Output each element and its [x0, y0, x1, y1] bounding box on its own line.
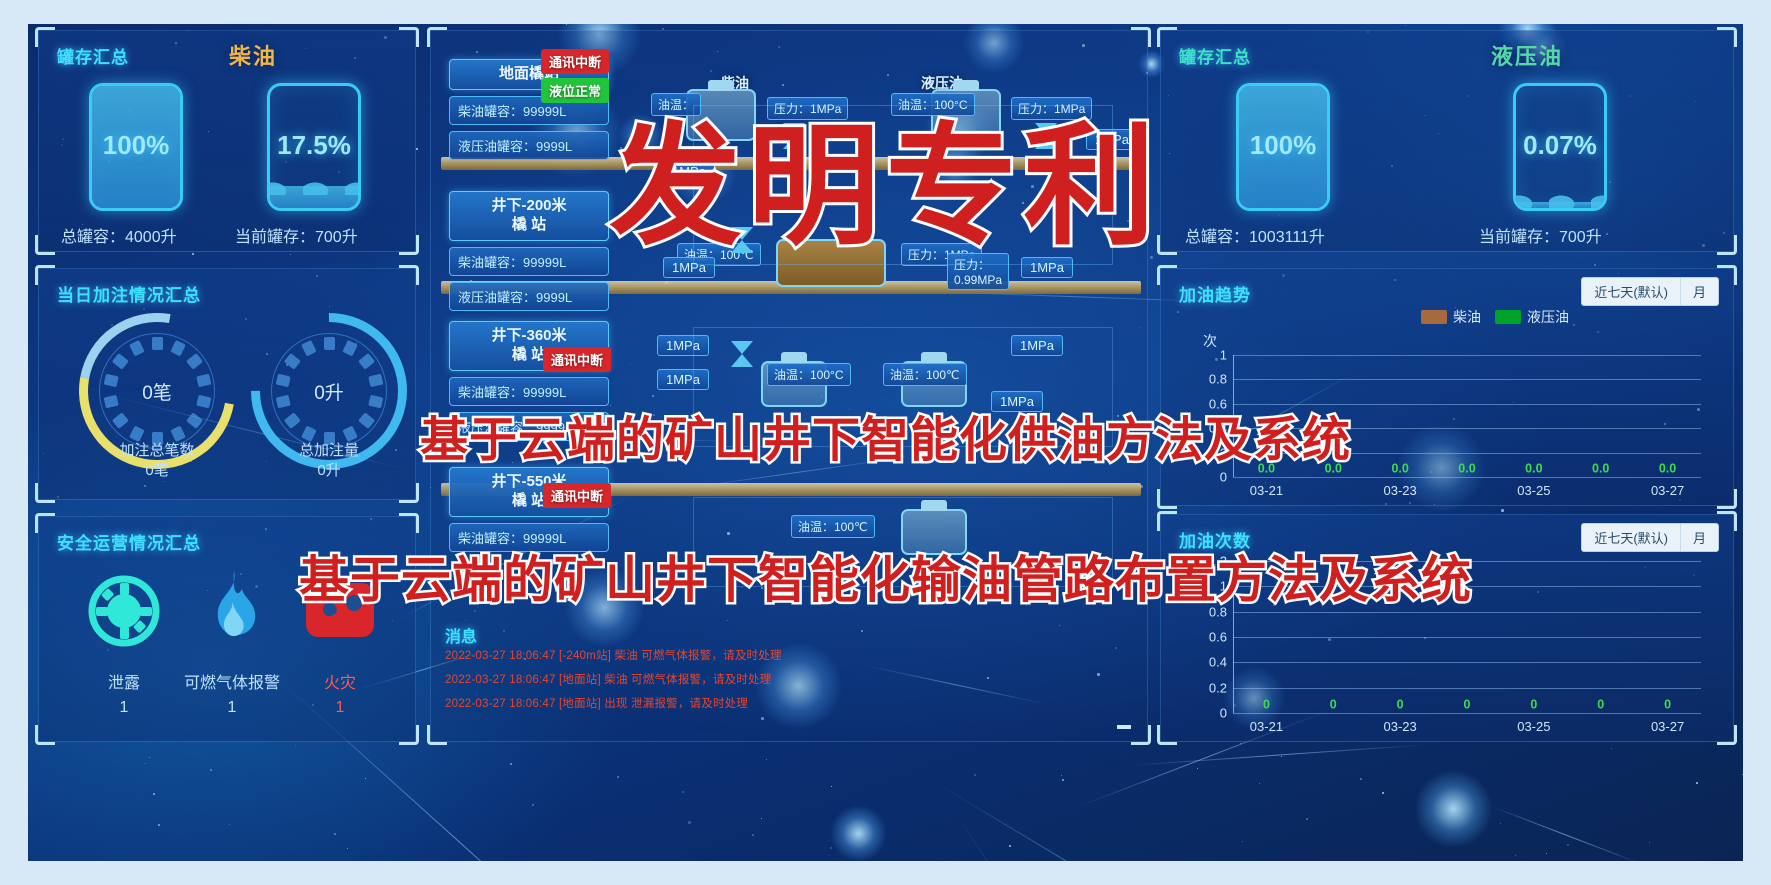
tank-current-percent: 17.5%	[270, 130, 358, 161]
light-glow	[1414, 770, 1492, 848]
panel-title-safety: 安全运营情况汇总	[57, 529, 201, 554]
star-dot	[1567, 844, 1569, 846]
message-panel: 消息 2022-03-27 18:06:47 [-240m站] 柴油 可燃气体报…	[431, 613, 1149, 723]
chart-title-trend: 加油趋势	[1179, 281, 1251, 306]
tank-wave	[1513, 190, 1607, 208]
corner-decoration	[399, 235, 419, 255]
message-panel-title: 消息	[445, 623, 477, 647]
x-axis-tick-label: 03-27	[1651, 719, 1684, 734]
panel-title-stock: 罐存汇总	[57, 43, 129, 68]
message-line: 2022-03-27 18:06:47 [-240m站] 柴油 可燃气体报警，请…	[445, 647, 782, 663]
x-axis-tick-label: 03-25	[1517, 483, 1550, 498]
star-dot	[1649, 842, 1650, 843]
safety-count-fire: 1	[265, 699, 415, 717]
legend-swatch-icon	[1421, 310, 1447, 324]
corner-decoration	[35, 27, 55, 47]
watermark-line-1: 基于云端的矿山井下智能化供油方法及系统	[420, 400, 1351, 470]
tank-fill	[1516, 202, 1604, 208]
corner-decoration	[35, 483, 55, 503]
fuel-type-label-diesel: 柴油	[229, 39, 277, 71]
corner-decoration	[1157, 725, 1177, 745]
corner-decoration	[35, 265, 55, 285]
star-dot	[1382, 792, 1384, 794]
corner-decoration	[427, 27, 447, 47]
x-axis-tick-label: 03-23	[1384, 483, 1417, 498]
panel-chart-refuel-trend: 加油趋势 近七天(默认) 月 柴油 液压油 次 00.20.40.60.8103…	[1160, 268, 1734, 506]
fuel-type-label-hydraulic: 液压油	[1491, 39, 1563, 71]
total-capacity-label: 总罐容：4000升	[61, 223, 177, 247]
status-badge-level: 液位正常	[541, 78, 609, 103]
star-dot	[688, 821, 691, 824]
star-dot	[416, 148, 418, 150]
light-streak	[1129, 744, 1426, 766]
y-axis-tick-label: 0	[1220, 470, 1227, 485]
star-dot	[1197, 768, 1198, 769]
panel-stock-hydraulic: 罐存汇总 液压油 100% 总罐容：1003111升 0.07% 当前罐存：70…	[1160, 30, 1734, 252]
star-dot	[229, 824, 230, 825]
x-axis-tick-label: 03-21	[1250, 719, 1283, 734]
tank-total-capacity: 100%	[89, 83, 183, 211]
tank-wave	[267, 177, 361, 195]
message-line: 2022-03-27 18:06:47 [地面站] 柴油 可燃气体报警，请及时处…	[445, 671, 771, 687]
star-dot	[192, 253, 194, 255]
corner-decoration	[399, 483, 419, 503]
legend-label-diesel: 柴油	[1453, 307, 1481, 327]
current-stock-label-hydraulic: 当前罐存：700升	[1479, 223, 1602, 247]
star-dot	[158, 824, 160, 826]
chart-data-label: 0	[1530, 698, 1537, 712]
corner-decoration	[427, 725, 447, 745]
chart-gridline	[1233, 662, 1701, 663]
tank-current-stock-hydraulic: 0.07%	[1513, 83, 1607, 211]
chart-data-label: 0	[1397, 698, 1404, 712]
status-badge-comm: 通讯中断	[541, 49, 609, 74]
chart-data-label: 0	[1330, 698, 1337, 712]
corner-decoration	[1157, 27, 1177, 47]
legend-label-hydraulic: 液压油	[1527, 307, 1569, 327]
chart-legend-trend: 柴油 液压油	[1421, 307, 1569, 327]
chart-data-label: 0	[1263, 698, 1270, 712]
light-streak	[1489, 805, 1644, 865]
star-dot	[149, 757, 150, 758]
corner-decoration	[1157, 511, 1177, 531]
corner-decoration	[1717, 725, 1737, 745]
star-dot	[210, 769, 212, 771]
star-dot	[532, 804, 534, 806]
total-capacity-label-hydraulic: 总罐容：1003111升	[1185, 223, 1325, 247]
panel-stock-diesel: 罐存汇总 柴油 100% 总罐容：4000升 17.5% 当前罐存：700升	[38, 30, 416, 252]
corner-decoration	[1131, 27, 1151, 47]
light-glow	[830, 805, 887, 862]
star-dot	[1360, 778, 1362, 780]
minimize-icon[interactable]	[1117, 725, 1131, 729]
station-minus-550[interactable]: 井下-550米 橇 站 柴油罐容：99999L	[449, 467, 609, 552]
x-axis-tick-label: 03-25	[1517, 719, 1550, 734]
star-dot	[761, 818, 762, 819]
star-dot	[1515, 855, 1516, 856]
y-axis-tick-label: 0.4	[1209, 655, 1227, 670]
y-axis-tick-label: 0.8	[1209, 372, 1227, 387]
star-dot	[1240, 743, 1241, 744]
status-badge-comm: 通讯中断	[543, 483, 611, 508]
chart-data-label: 0.0	[1659, 462, 1676, 476]
corner-decoration	[1717, 265, 1737, 285]
star-dot	[1500, 823, 1501, 824]
star-dot	[682, 791, 684, 793]
star-dot	[617, 776, 619, 778]
chart-gridline	[1233, 637, 1701, 638]
watermark-line-2: 基于云端的矿山井下智能化输油管路布置方法及系统	[299, 540, 1472, 612]
corner-decoration	[399, 513, 419, 533]
star-dot	[1501, 509, 1504, 512]
chart-gridline	[1233, 477, 1701, 478]
star-dot	[1546, 853, 1547, 854]
legend-item-hydraulic: 液压油	[1495, 307, 1569, 327]
station-surface-tags: 通讯中断 液位正常	[541, 49, 609, 103]
corner-decoration	[1717, 511, 1737, 531]
star-dot	[830, 847, 832, 849]
corner-decoration	[35, 235, 55, 255]
y-axis-tick-label: 1	[1220, 348, 1227, 363]
star-dot	[1281, 756, 1282, 757]
dashboard-stage: 罐存汇总 柴油 100% 总罐容：4000升 17.5% 当前罐存：700升 当…	[0, 0, 1771, 885]
current-stock-label: 当前罐存：700升	[235, 223, 358, 247]
star-dot	[153, 793, 155, 795]
range-tabs-trend[interactable]: 近七天(默认) 月	[1581, 277, 1719, 306]
legend-item-diesel: 柴油	[1421, 307, 1481, 327]
y-axis-tick-label: 0.2	[1209, 680, 1227, 695]
x-axis-tick-label: 03-21	[1250, 483, 1283, 498]
y-axis-unit-trend: 次	[1203, 331, 1217, 351]
chart-data-label: 0.0	[1391, 462, 1408, 476]
chart-data-label: 0	[1464, 698, 1471, 712]
page-border-left	[0, 0, 28, 885]
corner-decoration	[35, 725, 55, 745]
tank-total-percent-hydraulic: 100%	[1239, 130, 1327, 161]
panel-title-today: 当日加注情况汇总	[57, 281, 201, 306]
y-axis-tick-label: 0.6	[1209, 630, 1227, 645]
tab-last-seven-days[interactable]: 近七天(默认)	[1582, 524, 1680, 551]
tab-month[interactable]: 月	[1680, 524, 1718, 551]
star-dot	[1611, 748, 1612, 749]
station-row-diesel: 柴油罐容：99999L	[449, 247, 609, 276]
safety-label-fire: 火灾	[265, 669, 415, 693]
star-dot	[1009, 845, 1011, 847]
message-line: 2022-03-27 18:06:47 [地面站] 出现 泄漏报警，请及时处理	[445, 695, 748, 711]
chart-gridline	[1233, 688, 1701, 689]
corner-decoration	[399, 27, 419, 47]
tab-month[interactable]: 月	[1680, 278, 1718, 305]
star-dot	[1306, 818, 1308, 820]
chart-gridline	[1233, 355, 1701, 356]
y-axis-tick-label: 0	[1220, 706, 1227, 721]
panel-title-stock-right: 罐存汇总	[1179, 43, 1251, 68]
chart-data-label: 0.0	[1592, 462, 1609, 476]
star-dot	[1242, 841, 1243, 842]
station-row-hydraulic: 液压油罐容：9999L	[449, 282, 609, 311]
watermark-patent: 发明专利	[610, 80, 1162, 271]
star-dot	[1696, 782, 1698, 784]
x-axis-tick-label: 03-23	[1384, 719, 1417, 734]
star-dot	[334, 833, 336, 835]
panel-today-refuel: 当日加注情况汇总 0笔 加注总笔数 0笔 0升 总加注量 0升	[38, 268, 416, 500]
chart-gridline	[1233, 713, 1701, 714]
star-dot	[1062, 779, 1064, 781]
star-dot	[1259, 783, 1260, 784]
corner-decoration	[35, 513, 55, 533]
star-dot	[295, 745, 296, 746]
corner-decoration	[1717, 235, 1737, 255]
chart-gridline	[1233, 379, 1701, 380]
tank-current-percent-hydraulic: 0.07%	[1516, 130, 1604, 161]
tank-total-percent: 100%	[92, 130, 180, 161]
station-name: 井下-200米 橇 站	[449, 191, 609, 241]
star-dot	[752, 834, 754, 836]
chart-data-label: 0	[1597, 698, 1604, 712]
tank-current-stock: 17.5%	[267, 83, 361, 211]
legend-swatch-icon	[1495, 310, 1521, 324]
tab-last-seven-days[interactable]: 近七天(默认)	[1582, 278, 1680, 305]
star-dot	[365, 778, 366, 779]
corner-decoration	[1717, 27, 1737, 47]
star-dot	[510, 763, 512, 765]
page-border-right	[1743, 0, 1771, 885]
station-minus-200[interactable]: 井下-200米 橇 站 柴油罐容：99999L 液压油罐容：9999L	[449, 191, 609, 311]
x-axis-tick-label: 03-27	[1651, 483, 1684, 498]
station-row-hydraulic: 液压油罐容：9999L	[449, 131, 609, 160]
page-border-bottom	[0, 861, 1771, 885]
corner-decoration	[399, 265, 419, 285]
corner-decoration	[1157, 489, 1177, 509]
tank-fill	[270, 186, 358, 208]
range-tabs-count[interactable]: 近七天(默认) 月	[1581, 523, 1719, 552]
star-dot	[974, 774, 976, 776]
page-border-top	[0, 0, 1771, 24]
star-dot	[1594, 264, 1596, 266]
star-dot	[347, 848, 348, 849]
chart-data-label: 0.0	[1525, 462, 1542, 476]
chart-data-label: 0	[1664, 698, 1671, 712]
star-dot	[1405, 25, 1406, 26]
star-dot	[831, 786, 832, 787]
status-badge-comm: 通讯中断	[543, 347, 611, 372]
star-dot	[766, 759, 767, 760]
gauge-caption-count: 加注总笔数 0笔	[67, 441, 247, 482]
star-dot	[290, 254, 291, 255]
chart-data-label: 0.0	[1458, 462, 1475, 476]
star-dot	[566, 24, 567, 25]
star-dot	[1061, 775, 1062, 776]
corner-decoration	[1717, 489, 1737, 509]
corner-decoration	[1131, 725, 1151, 745]
tank-total-capacity-hydraulic: 100%	[1236, 83, 1330, 211]
gauge-caption-volume: 总加注量 0升	[239, 441, 419, 482]
star-dot	[145, 763, 146, 764]
corner-decoration	[399, 725, 419, 745]
